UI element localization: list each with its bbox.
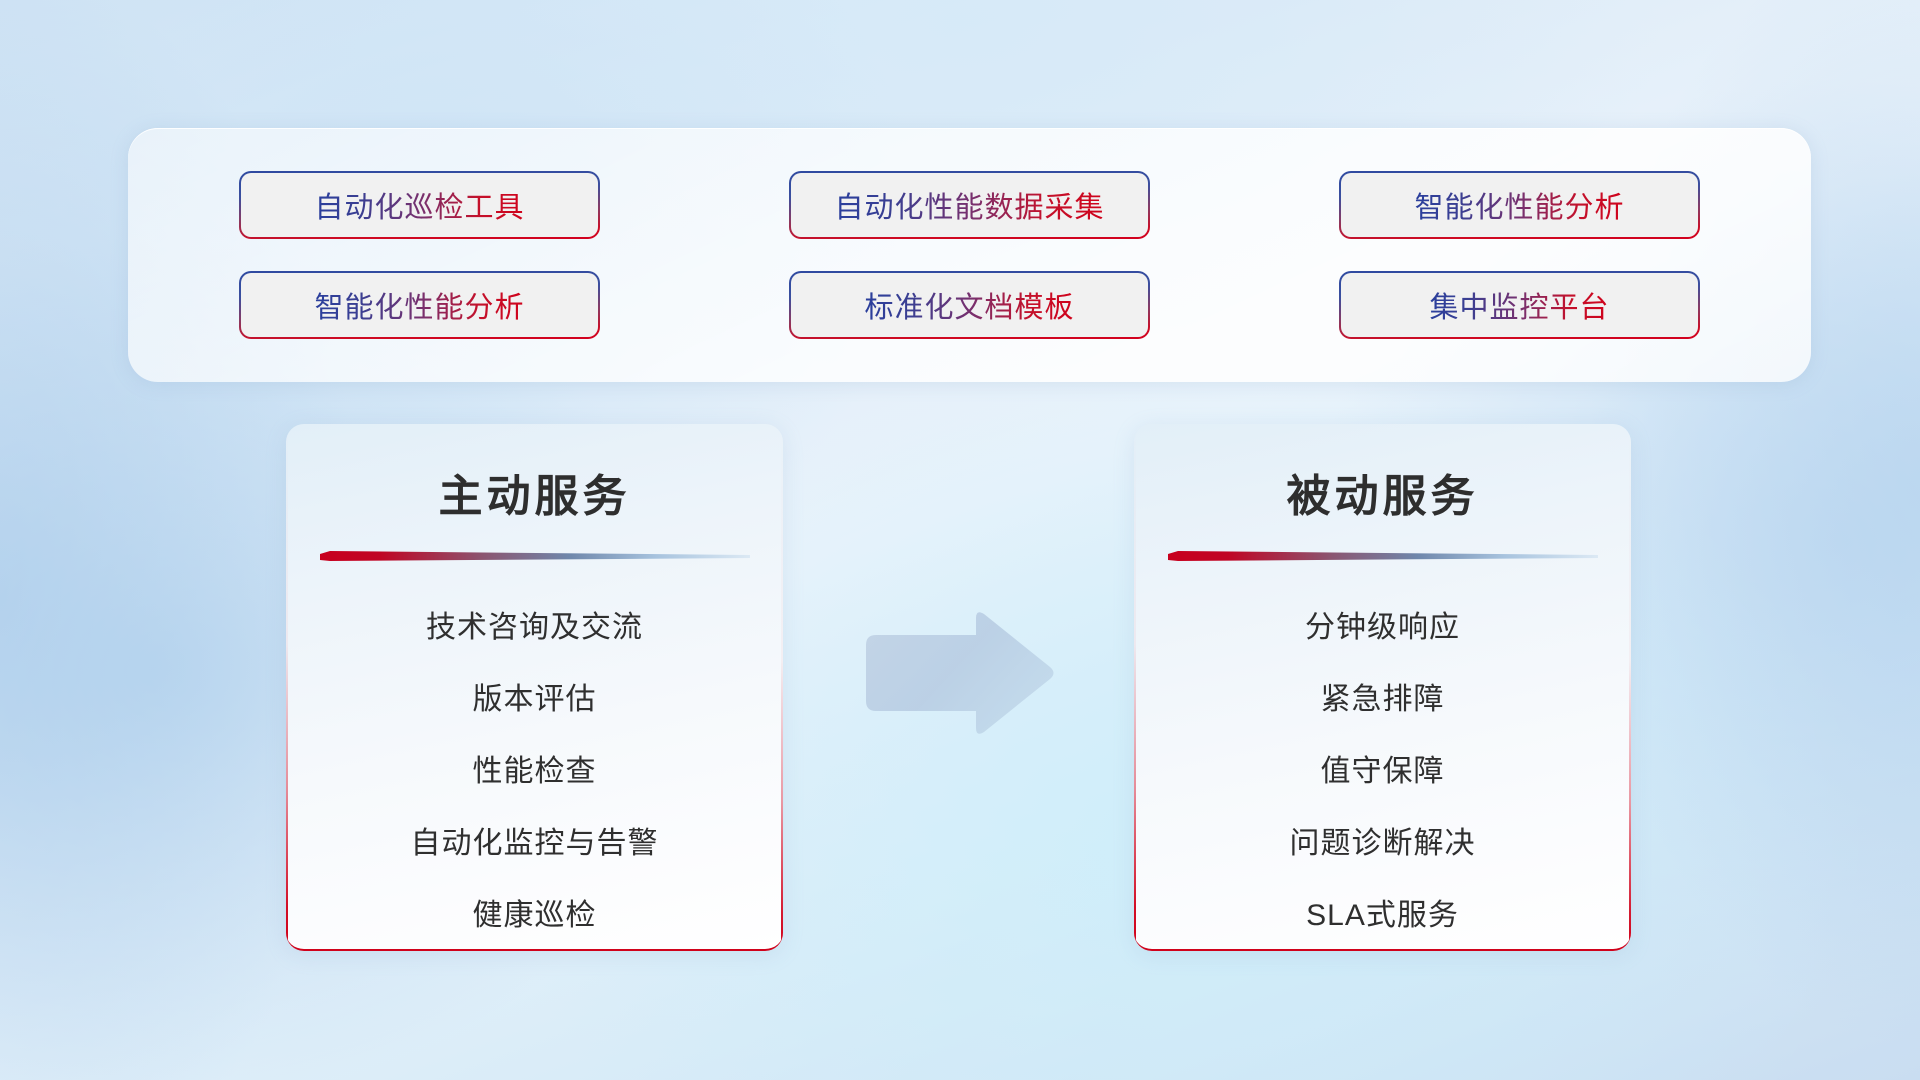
capabilities-panel: 自动化巡检工具 自动化性能数据采集 智能化性能分析 智能化性能分析 标准化文档模… (128, 128, 1811, 382)
card-item: 分钟级响应 (1134, 592, 1631, 664)
capability-pill-label: 自动化性能数据采集 (834, 184, 1104, 226)
card-item: 版本评估 (286, 664, 783, 736)
capability-pill[interactable]: 集中监控平台 (1341, 273, 1698, 337)
card-item-list: 技术咨询及交流 版本评估 性能检查 自动化监控与告警 健康巡检 (286, 592, 783, 951)
card-item: 自动化监控与告警 (286, 808, 783, 880)
capability-pill-label: 自动化巡检工具 (314, 184, 524, 226)
capability-pill[interactable]: 自动化巡检工具 (241, 173, 598, 237)
capability-pill[interactable]: 标准化文档模板 (791, 273, 1148, 337)
card-item: SLA式服务 (1134, 880, 1631, 951)
card-title: 主动服务 (286, 460, 783, 524)
card-item: 紧急排障 (1134, 664, 1631, 736)
card-item: 技术咨询及交流 (286, 592, 783, 664)
capability-pill[interactable]: 智能化性能分析 (241, 273, 598, 337)
slide-canvas: 自动化巡检工具 自动化性能数据采集 智能化性能分析 智能化性能分析 标准化文档模… (0, 0, 1920, 1080)
capability-pill-grid: 自动化巡检工具 自动化性能数据采集 智能化性能分析 智能化性能分析 标准化文档模… (241, 173, 1698, 337)
card-divider (320, 551, 750, 562)
capability-pill-label: 标准化文档模板 (864, 284, 1074, 326)
service-card-reactive[interactable]: 被动服务 分钟级响应 紧急排障 值守保障 (1134, 424, 1631, 951)
capability-pill-label: 集中监控平台 (1429, 284, 1609, 326)
service-card-proactive[interactable]: 主动服务 技术咨询及交流 版本评估 性能检查 (286, 424, 783, 951)
card-item-list: 分钟级响应 紧急排障 值守保障 问题诊断解决 SLA式服务 (1134, 592, 1631, 951)
arrow-right-icon (858, 608, 1058, 738)
capability-pill[interactable]: 自动化性能数据采集 (791, 173, 1148, 237)
card-item: 值守保障 (1134, 736, 1631, 808)
card-title: 被动服务 (1134, 460, 1631, 524)
capability-pill-label: 智能化性能分析 (1414, 184, 1624, 226)
card-divider (1168, 551, 1598, 562)
card-item: 性能检查 (286, 736, 783, 808)
capability-pill-label: 智能化性能分析 (314, 284, 524, 326)
capability-pill[interactable]: 智能化性能分析 (1341, 173, 1698, 237)
card-item: 问题诊断解决 (1134, 808, 1631, 880)
card-item: 健康巡检 (286, 880, 783, 951)
